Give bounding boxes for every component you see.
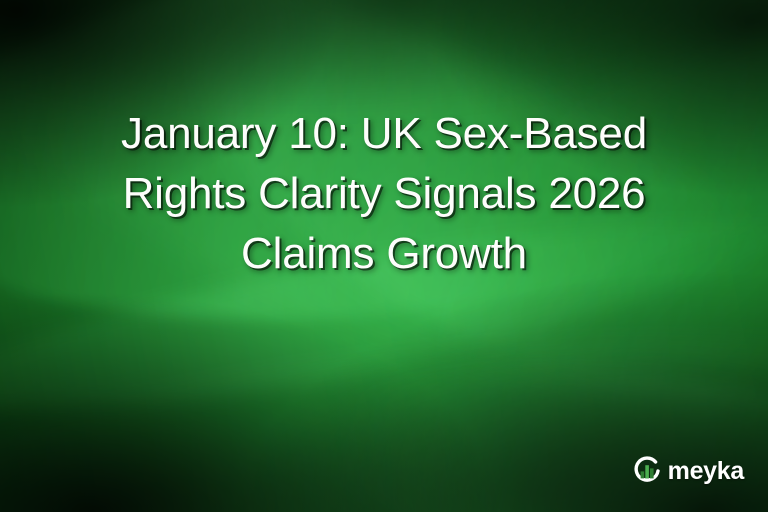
- brand-wordmark: meyka: [668, 459, 744, 484]
- promo-banner: January 10: UK Sex-Based Rights Clarity …: [0, 0, 768, 512]
- headline-title: January 10: UK Sex-Based Rights Clarity …: [54, 104, 714, 284]
- meyka-bar-chart-circle-icon: [631, 455, 663, 487]
- brand-logo: meyka: [631, 454, 744, 488]
